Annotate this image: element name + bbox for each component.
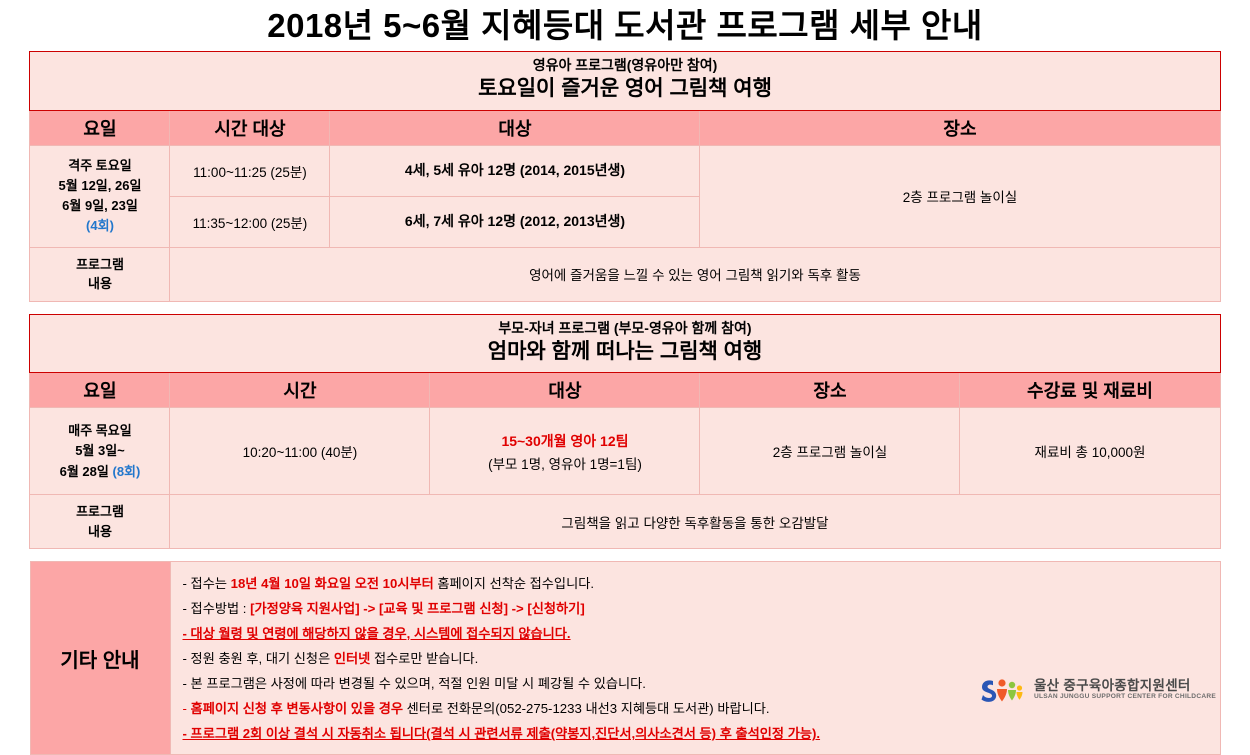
program1-banner-row: 영유아 프로그램(영유아만 참여) 토요일이 즐거운 영어 그림책 여행 [30, 51, 1220, 110]
notice-segment: - 접수방법 : [183, 601, 251, 616]
program2-day-line3: 6월 28일 [60, 464, 109, 479]
page-title: 2018년 5~6월 지혜등대 도서관 프로그램 세부 안내 [0, 0, 1250, 51]
program2-banner-subtitle: 부모-자녀 프로그램 (부모-영유아 함께 참여) [30, 320, 1219, 338]
notice-segment: 18년 4월 10일 화요일 오전 10시부터 [231, 576, 434, 591]
program2-banner-title: 엄마와 함께 떠나는 그림책 여행 [30, 339, 1219, 365]
organization-logo: 울산 중구육아종합지원센터 ULSAN JUNGGU SUPPORT CENTE… [979, 675, 1216, 705]
program1-banner: 영유아 프로그램(영유아만 참여) 토요일이 즐거운 영어 그림책 여행 [30, 51, 1220, 110]
program2-header-target: 대상 [430, 373, 700, 408]
notices-list: - 접수는 18년 4월 10일 화요일 오전 10시부터 홈페이지 선착순 접… [183, 571, 1220, 746]
program1-day-line3: 6월 9일, 23일 [32, 196, 167, 216]
notice-line: - 대상 월령 및 연령에 해당하지 않을 경우, 시스템에 접수되지 않습니다… [183, 622, 1220, 647]
program1-content-label-line2: 내용 [30, 274, 169, 294]
notice-segment: 홈페이지 신청 후 변동사항이 있을 경우 [191, 701, 403, 716]
program2-banner-row: 부모-자녀 프로그램 (부모-영유아 함께 참여) 엄마와 함께 떠나는 그림책… [30, 314, 1220, 373]
notice-line: - 접수방법 : [가정양육 지원사업] -> [교육 및 프로그램 신청] -… [183, 597, 1220, 622]
program1-day-cell: 격주 토요일 5월 12일, 26일 6월 9일, 23일 (4회) [30, 145, 170, 247]
program1-content-label: 프로그램 내용 [30, 247, 170, 301]
program1-header-target: 대상 [330, 110, 700, 145]
program1-content-text: 영어에 즐거움을 느낄 수 있는 영어 그림책 읽기와 독후 활동 [170, 247, 1220, 301]
program2-content-label: 프로그램 내용 [30, 495, 170, 549]
notices-table: 기타 안내 - 접수는 18년 4월 10일 화요일 오전 10시부터 홈페이지… [30, 561, 1221, 754]
program2-target-main: 15~30개월 영아 12팀 [430, 430, 699, 454]
notices-row: 기타 안내 - 접수는 18년 4월 10일 화요일 오전 10시부터 홈페이지… [30, 562, 1220, 754]
program1-time-2: 11:35~12:00 (25분) [170, 196, 330, 247]
program2-table: 부모-자녀 프로그램 (부모-영유아 함께 참여) 엄마와 함께 떠나는 그림책… [29, 314, 1220, 550]
notice-segment: [가정양육 지원사업] -> [교육 및 프로그램 신청] -> [신청하기] [250, 601, 585, 616]
table-row: 매주 목요일 5월 3일~ 6월 28일 (8회) 10:20~11:00 (4… [30, 408, 1220, 495]
program1-day-line2: 5월 12일, 26일 [32, 176, 167, 196]
program2-content-row: 프로그램 내용 그림책을 읽고 다양한 독후활동을 통한 오감발달 [30, 495, 1220, 549]
logo-name-en: ULSAN JUNGGU SUPPORT CENTER FOR CHILDCAR… [1034, 694, 1216, 701]
program2-content-label-line1: 프로그램 [30, 502, 169, 522]
program2-header-day: 요일 [30, 373, 170, 408]
notices-body: - 접수는 18년 4월 10일 화요일 오전 10시부터 홈페이지 선착순 접… [170, 562, 1220, 754]
program2-header-time: 시간 [170, 373, 430, 408]
program1-header-time: 시간 대상 [170, 110, 330, 145]
notice-segment: 홈페이지 선착순 접수입니다. [434, 576, 594, 591]
program2-target-sub: (부모 1명, 영유아 1명=1팀) [430, 453, 699, 473]
program1-table: 영유아 프로그램(영유아만 참여) 토요일이 즐거운 영어 그림책 여행 요일 … [29, 51, 1220, 302]
notice-line: - 프로그램 2회 이상 결석 시 자동취소 됩니다(결석 시 관련서류 제출(… [183, 722, 1220, 747]
program1-header-row: 요일 시간 대상 대상 장소 [30, 110, 1220, 145]
logo-name-ko: 울산 중구육아종합지원센터 [1034, 679, 1216, 693]
program1-target-2: 6세, 7세 유아 12명 (2012, 2013년생) [330, 196, 700, 247]
notice-segment: - [183, 701, 191, 716]
notice-segment: 인터넷 [334, 651, 370, 666]
program2-content-text: 그림책을 읽고 다양한 독후활동을 통한 오감발달 [170, 495, 1220, 549]
program2-header-place: 장소 [700, 373, 960, 408]
program2-header-fee: 수강료 및 재료비 [960, 373, 1220, 408]
program1-session-count: (4회) [32, 216, 167, 236]
program1-content-label-line1: 프로그램 [30, 255, 169, 275]
program1-banner-title: 토요일이 즐거운 영어 그림책 여행 [30, 76, 1219, 102]
program1-place: 2층 프로그램 놀이실 [700, 145, 1220, 247]
childcare-center-logo-icon [979, 675, 1025, 705]
program1-time-1: 11:00~11:25 (25분) [170, 145, 330, 196]
program2-banner: 부모-자녀 프로그램 (부모-영유아 함께 참여) 엄마와 함께 떠나는 그림책… [30, 314, 1220, 373]
notices-label: 기타 안내 [30, 562, 170, 754]
notice-segment: - 정원 충원 후, 대기 신청은 [183, 651, 334, 666]
table-row: 격주 토요일 5월 12일, 26일 6월 9일, 23일 (4회) 11:00… [30, 145, 1220, 196]
program-guide-page: 2018년 5~6월 지혜등대 도서관 프로그램 세부 안내 영유아 프로그램(… [0, 0, 1250, 711]
notice-line: - 정원 충원 후, 대기 신청은 인터넷 접수로만 받습니다. [183, 647, 1220, 672]
program2-day-line2: 5월 3일~ [32, 441, 167, 461]
program1-target-1: 4세, 5세 유아 12명 (2014, 2015년생) [330, 145, 700, 196]
program2-fee: 재료비 총 10,000원 [960, 408, 1220, 495]
program1-header-place: 장소 [700, 110, 1220, 145]
section-spacer-2 [30, 549, 1220, 561]
program2-time: 10:20~11:00 (40분) [170, 408, 430, 495]
program1-banner-subtitle: 영유아 프로그램(영유아만 참여) [30, 57, 1219, 75]
program2-day-line3-wrap: 6월 28일 (8회) [32, 462, 167, 482]
notice-segment: - 접수는 [183, 576, 231, 591]
program2-session-count: (8회) [112, 464, 140, 479]
program2-day-line1: 매주 목요일 [32, 421, 167, 441]
program2-content-label-line2: 내용 [30, 522, 169, 542]
notice-segment: 센터로 전화문의(052-275-1233 내선3 지혜등대 도서관) 바랍니다… [403, 701, 770, 716]
program1-day-line1: 격주 토요일 [32, 156, 167, 176]
notice-segment: - 대상 월령 및 연령에 해당하지 않을 경우, 시스템에 접수되지 않습니다… [183, 626, 571, 641]
program2-place: 2층 프로그램 놀이실 [700, 408, 960, 495]
notice-segment: 접수로만 받습니다. [370, 651, 478, 666]
section-spacer-1 [30, 302, 1220, 314]
notice-segment: - 본 프로그램은 사정에 따라 변경될 수 있으며, 적절 인원 미달 시 폐… [183, 676, 646, 691]
logo-text-block: 울산 중구육아종합지원센터 ULSAN JUNGGU SUPPORT CENTE… [1034, 679, 1216, 701]
program2-target-cell: 15~30개월 영아 12팀 (부모 1명, 영유아 1명=1팀) [430, 408, 700, 495]
notice-line: - 접수는 18년 4월 10일 화요일 오전 10시부터 홈페이지 선착순 접… [183, 571, 1220, 596]
program2-header-row: 요일 시간 대상 장소 수강료 및 재료비 [30, 373, 1220, 408]
program1-header-day: 요일 [30, 110, 170, 145]
program1-content-row: 프로그램 내용 영어에 즐거움을 느낄 수 있는 영어 그림책 읽기와 독후 활… [30, 247, 1220, 301]
program2-day-cell: 매주 목요일 5월 3일~ 6월 28일 (8회) [30, 408, 170, 495]
notice-segment: - 프로그램 2회 이상 결석 시 자동취소 됩니다(결석 시 관련서류 제출(… [183, 726, 821, 741]
